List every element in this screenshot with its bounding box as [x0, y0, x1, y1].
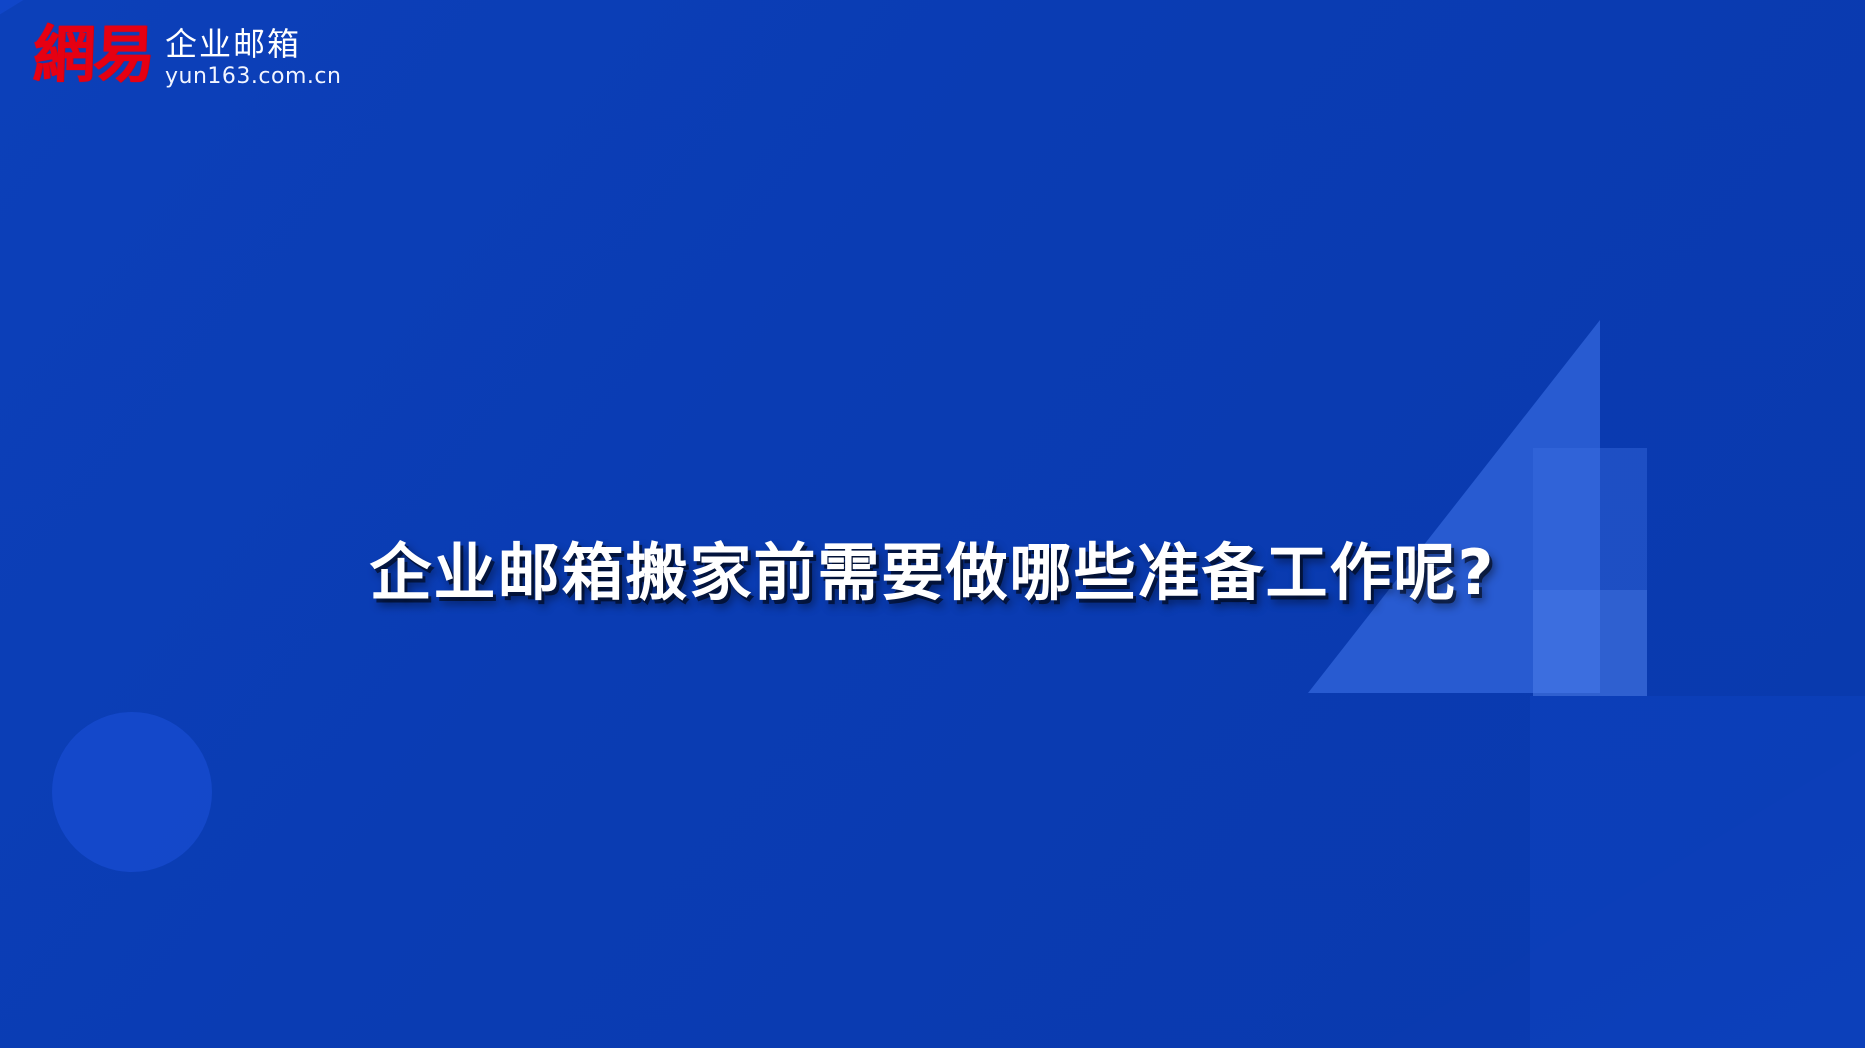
logo-url: yun163.com.cn	[165, 64, 341, 90]
cover-banner: 網易 企业邮箱 yun163.com.cn 企业邮箱搬家前需要做哪些准备工作呢?	[0, 0, 1865, 1048]
logo-product-name: 企业邮箱	[165, 26, 341, 62]
logo-text-block: 企业邮箱 yun163.com.cn	[165, 22, 341, 90]
netease-logo[interactable]: 網易 企业邮箱 yun163.com.cn	[33, 22, 341, 98]
bottom-right-wash-shape	[1530, 696, 1865, 1048]
netease-wordmark-icon: 網易	[32, 22, 154, 88]
bottom-left-circle-shape	[52, 712, 212, 872]
right-slab-inner-shape	[1533, 590, 1647, 696]
